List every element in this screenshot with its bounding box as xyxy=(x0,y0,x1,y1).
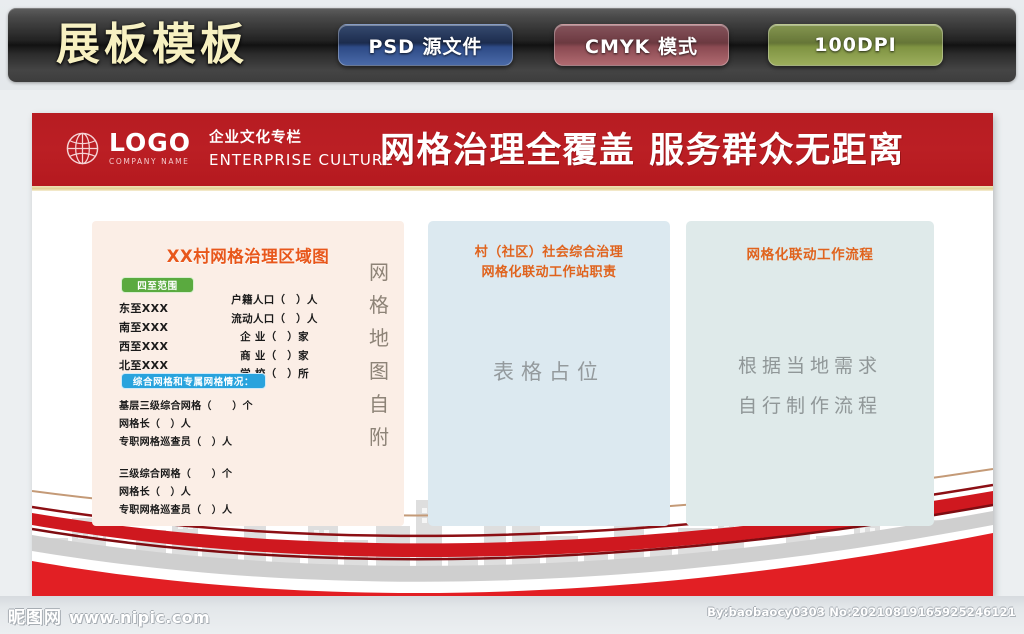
range-items-list: 东至XXX 南至XXX 西至XXX 北至XXX xyxy=(119,299,168,375)
poster-canvas: LOGO COMPANY NAME 企业文化专栏 ENTERPRISE CULT… xyxy=(32,113,993,596)
grid-group-a-list: 基层三级综合网格（ ）个 网格长（ ）人 专职网格巡查员（ ）人 xyxy=(119,398,253,452)
right-panel-placeholder: 根据当地需求 自行制作流程 xyxy=(686,346,934,426)
list-item: 专职网格巡查员（ ）人 xyxy=(119,502,232,520)
vertical-note-char: 地 xyxy=(362,322,396,355)
middle-panel-placeholder: 表格占位 xyxy=(428,356,670,386)
right-placeholder-line2: 自行制作流程 xyxy=(686,386,934,426)
list-item: 南至XXX xyxy=(119,318,168,337)
left-panel-title: XX村网格治理区域图 xyxy=(92,243,404,267)
watermark-footer: 昵图网 www.nipic.com By:baobaocy0303 No:202… xyxy=(0,596,1024,634)
middle-panel-title-line1: 村（社区）社会综合治理 xyxy=(428,243,670,263)
range-pill-badge: 四至范围 xyxy=(121,277,194,293)
culture-column-label: 企业文化专栏 ENTERPRISE CULTURE xyxy=(209,129,394,170)
middle-panel-title: 村（社区）社会综合治理 网格化联动工作站职责 xyxy=(428,243,670,283)
right-panel-title: 网格化联动工作流程 xyxy=(686,243,934,263)
vertical-note-char: 格 xyxy=(362,289,396,322)
nipic-brand-cn: 昵图网 xyxy=(8,603,62,628)
vertical-note-char: 自 xyxy=(362,388,396,421)
grid-group-b-list: 三级综合网格（ ）个 网格长（ ）人 专职网格巡查员（ ）人 xyxy=(119,466,232,520)
nipic-watermark: 昵图网 www.nipic.com xyxy=(8,603,210,628)
list-item: 西至XXX xyxy=(119,337,168,356)
nipic-url: www.nipic.com xyxy=(69,608,210,627)
cmyk-mode-badge[interactable]: CMYK 模式 xyxy=(554,24,729,66)
population-stats-list: 户籍人口（ ）人 流动人口（ ）人 企 业（ ）家 商 业（ ）家 学 校（ ）… xyxy=(207,291,342,384)
vertical-note-char: 图 xyxy=(362,355,396,388)
list-item: 网格长（ ）人 xyxy=(119,416,253,434)
chrome-bar: 展板模板 PSD 源文件 CMYK 模式 100DPI xyxy=(8,8,1016,82)
list-item: 网格长（ ）人 xyxy=(119,484,232,502)
chrome-bar-background: 展板模板 PSD 源文件 CMYK 模式 100DPI xyxy=(0,0,1024,90)
list-item: 基层三级综合网格（ ）个 xyxy=(119,398,253,416)
poster-main-title: 网格治理全覆盖 服务群众无距离 xyxy=(380,131,980,171)
chrome-title: 展板模板 xyxy=(56,17,248,73)
author-credit: By:baobaocy0303 No:20210819165925246121 xyxy=(707,605,1016,619)
list-item: 东至XXX xyxy=(119,299,168,318)
left-region-map-panel: XX村网格治理区域图 四至范围 东至XXX 南至XXX 西至XXX 北至XXX … xyxy=(92,221,404,526)
right-placeholder-line1: 根据当地需求 xyxy=(686,346,934,386)
middle-panel-title-line2: 网格化联动工作站职责 xyxy=(428,263,670,283)
logo-wordmark: LOGO xyxy=(109,130,191,155)
middle-duties-panel: 村（社区）社会综合治理 网格化联动工作站职责 表格占位 xyxy=(428,221,670,526)
list-item: 商 业（ ）家 xyxy=(207,347,342,366)
list-item: 流动人口（ ）人 xyxy=(207,310,342,329)
psd-source-badge[interactable]: PSD 源文件 xyxy=(338,24,513,66)
vertical-note-char: 附 xyxy=(362,421,396,454)
logo-subtitle: COMPANY NAME xyxy=(109,156,191,167)
map-attach-vertical-note: 网 格 地 图 自 附 xyxy=(362,256,396,454)
dpi-badge[interactable]: 100DPI xyxy=(768,24,943,66)
poster-body: XX村网格治理区域图 四至范围 东至XXX 南至XXX 西至XXX 北至XXX … xyxy=(32,191,993,596)
vertical-note-char: 网 xyxy=(362,256,396,289)
culture-label-cn: 企业文化专栏 xyxy=(209,129,394,148)
list-item: 企 业（ ）家 xyxy=(207,328,342,347)
culture-label-en: ENTERPRISE CULTURE xyxy=(209,150,394,170)
grid-status-pill-badge: 综合网格和专属网格情况： xyxy=(121,373,266,389)
logo-block: LOGO COMPANY NAME xyxy=(65,130,191,167)
list-item: 户籍人口（ ）人 xyxy=(207,291,342,310)
list-item: 三级综合网格（ ）个 xyxy=(119,466,232,484)
globe-icon xyxy=(65,131,100,166)
list-item: 专职网格巡查员（ ）人 xyxy=(119,434,253,452)
right-workflow-panel: 网格化联动工作流程 根据当地需求 自行制作流程 xyxy=(686,221,934,526)
